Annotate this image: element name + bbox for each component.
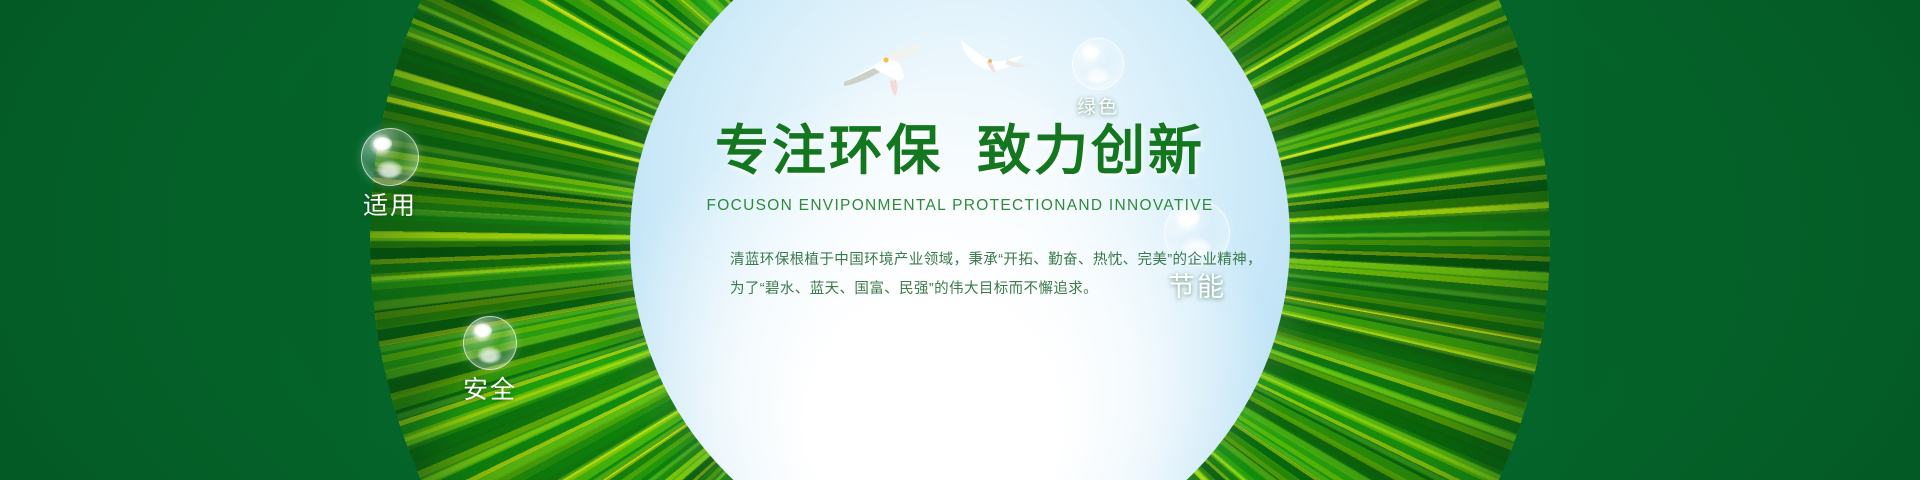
- headline-primary: 专注环保: [715, 121, 943, 181]
- feature-marker-label: 安全: [430, 378, 550, 403]
- hero-banner: 适用 安全 绿色 节能 专注环保致力创新 FOCUSON ENVIPONMENT…: [0, 0, 1920, 480]
- page-subtitle: FOCUSON ENVIPONMENTAL PROTECTIONAND INNO…: [0, 198, 1920, 214]
- seagull-icon: [840, 38, 936, 105]
- feature-marker-safety[interactable]: 安全: [430, 316, 550, 403]
- page-title: 专注环保致力创新: [0, 124, 1920, 178]
- feature-marker-label: 绿色: [1038, 98, 1158, 117]
- seagull-icon: [955, 30, 1027, 85]
- headline-secondary: 致力创新: [977, 121, 1205, 181]
- bubble-icon: [463, 316, 517, 370]
- feature-marker-green[interactable]: 绿色: [1038, 38, 1158, 117]
- paragraph-line: 为了“碧水、蓝天、国富、民强”的伟大目标而不懈追求。: [730, 275, 1250, 304]
- bubble-icon: [1072, 38, 1124, 90]
- banner-paragraph: 清蓝环保根植于中国环境产业领域，秉承“开拓、勤奋、热忱、完美”的企业精神， 为了…: [730, 246, 1250, 304]
- paragraph-line: 清蓝环保根植于中国环境产业领域，秉承“开拓、勤奋、热忱、完美”的企业精神，: [730, 246, 1250, 275]
